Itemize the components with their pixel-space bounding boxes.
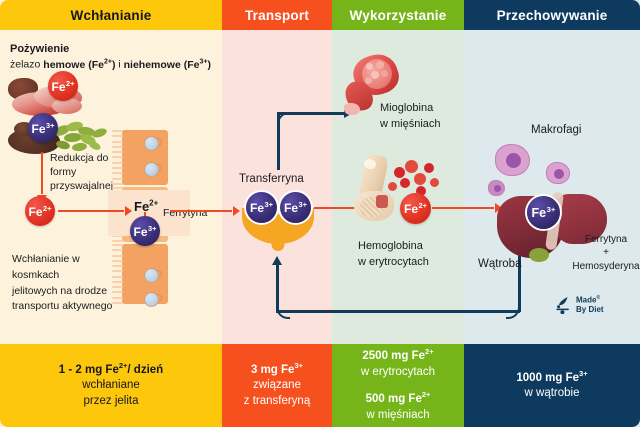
- myoglobin-label: Mioglobina w mięśniach: [380, 101, 466, 132]
- food-subtitle-bold-2: niehemowe (Fe: [124, 59, 200, 71]
- food-title: Pożywienie: [10, 42, 69, 57]
- villi-fringe-top: [112, 130, 123, 185]
- reduction-arrow: [41, 152, 43, 194]
- connector-arrowhead-transferrin-return: [272, 256, 282, 265]
- villi-note-line2: jelitowych na drodze: [12, 284, 128, 300]
- enterocyte-3: [144, 268, 159, 283]
- red-blood-cell-5: [424, 163, 434, 173]
- footer-transport-strong: 3 mg Fe3+: [251, 361, 303, 379]
- header-cell-transport: Transport: [222, 0, 332, 30]
- liver-label: Wątroba: [478, 257, 521, 272]
- iron-ion-nonheme-charge: 3+: [46, 121, 54, 130]
- enterocyte-4: [144, 292, 159, 307]
- macrophage-2: [546, 162, 570, 184]
- footer-transport-line2: z transferyną: [244, 394, 310, 410]
- leaf-drop-icon: [556, 296, 572, 314]
- logo-line2: By Diet: [576, 306, 604, 315]
- transferrin-label: Transferryna: [239, 172, 304, 187]
- villi-iron-label-text: Fe: [134, 199, 149, 214]
- footer-storage-strong: 1000 mg Fe3+: [516, 369, 587, 387]
- macrophages-label: Makrofagi: [531, 123, 582, 138]
- header-bar: Wchłanianie Transport Wykorzystanie Prze…: [0, 0, 640, 30]
- enterocyte-2: [144, 162, 159, 177]
- iron-ion-villi-inner-charge: 3+: [148, 224, 156, 233]
- storage-forms-line1: Ferrytyna: [566, 233, 640, 246]
- food-subtitle-plain-2: i: [115, 59, 123, 71]
- iron-ion-nonheme-label: Fe: [32, 122, 46, 136]
- storage-forms-label: Ferrytyna + Hemosyderyna: [566, 233, 640, 273]
- food-subtitle-plain-1: żelazo: [10, 59, 43, 71]
- footer-cell-storage: 1000 mg Fe3+ w wątrobie: [464, 344, 640, 427]
- iron-ion-liver: Fe3+: [527, 196, 560, 229]
- villi-iron-label-charge: 2+: [149, 199, 158, 208]
- myoglobin-line1: Mioglobina: [380, 101, 466, 117]
- red-blood-cell-2: [405, 160, 418, 173]
- myoglobin-line2: w mięśniach: [380, 117, 466, 133]
- red-blood-cell-3: [400, 178, 410, 188]
- food-subtitle: żelazo hemowe (Fe2+) i niehemowe (Fe3+): [10, 57, 220, 72]
- iron-ion-heme-charge: 2+: [66, 79, 74, 88]
- iron-ion-liver-label: Fe: [532, 206, 547, 220]
- connector-return-horizontal: [276, 310, 520, 313]
- hemoglobin-line2: w erytrocytach: [358, 255, 468, 271]
- bone-marrow-illustration: [348, 155, 408, 227]
- footer-utilization-line2: w mięśniach: [366, 408, 429, 424]
- hemoglobin-line1: Hemoglobina: [358, 239, 468, 255]
- header-cell-absorption: Wchłanianie: [0, 0, 222, 30]
- footer-cell-transport: 3 mg Fe3+ związane z transferyną: [222, 344, 332, 427]
- header-cell-utilization: Wykorzystanie: [332, 0, 464, 30]
- red-blood-cell-4: [414, 173, 426, 185]
- logo-text: Made® By Diet: [576, 296, 604, 315]
- food-subtitle-bold-1: hemowe (Fe: [43, 59, 104, 71]
- header-label-transport: Transport: [245, 8, 309, 23]
- absorption-arrow-to-villi: [58, 210, 124, 212]
- footer-cell-utilization: 2500 mg Fe2+ w erytrocytach 500 mg Fe2+ …: [332, 344, 464, 427]
- iron-ion-reduced: Fe2+: [25, 196, 55, 226]
- footer-cell-absorption: 1 - 2 mg Fe2+/ dzień wchłaniane przez je…: [0, 344, 222, 427]
- red-blood-cell-8: [430, 178, 439, 187]
- footer-utilization-strong-2: 500 mg Fe2+: [366, 390, 431, 408]
- brand-logo: Made® By Diet: [556, 296, 604, 315]
- enterocyte-1: [144, 136, 159, 151]
- iron-ion-transferrin-left: Fe3+: [246, 192, 277, 223]
- iron-ion-hemoglobin-charge: 2+: [419, 201, 427, 210]
- iron-ion-reduced-label: Fe: [29, 205, 43, 219]
- villi-note-line3: transportu aktywnego: [12, 299, 128, 315]
- footer-summary-bar: 1 - 2 mg Fe2+/ dzień wchłaniane przez je…: [0, 344, 640, 427]
- red-blood-cell-6: [388, 182, 397, 191]
- iron-ion-transferrin-right: Fe3+: [280, 192, 311, 223]
- iron-ion-villi-inner-label: Fe: [134, 225, 148, 239]
- footer-utilization-line1: w erytrocytach: [361, 365, 435, 381]
- villi-note-line1: Wchłanianie w kosmkach: [12, 252, 128, 284]
- footer-absorption-line1: wchłaniane: [82, 378, 140, 394]
- header-label-absorption: Wchłanianie: [71, 8, 152, 23]
- iron-ion-heme: Fe2+: [48, 71, 78, 101]
- header-label-storage: Przechowywanie: [497, 8, 608, 23]
- iron-ion-transferrin-right-charge: 3+: [299, 200, 307, 209]
- hemoglobin-label: Hemoglobina w erytrocytach: [358, 239, 468, 270]
- footer-absorption-line2: przez jelita: [84, 394, 139, 410]
- footer-utilization-strong-1: 2500 mg Fe2+: [362, 347, 433, 365]
- food-subtitle-bold-2b: ): [207, 59, 211, 71]
- iron-ion-hemoglobin-label: Fe: [404, 202, 418, 216]
- infographic-canvas: Wchłanianie Transport Wykorzystanie Prze…: [0, 0, 640, 427]
- food-subtitle-sup-1: 2+: [104, 58, 112, 65]
- arrow-villi-to-transferrin: [170, 210, 232, 212]
- storage-forms-line3: Hemosyderyna: [566, 260, 640, 273]
- iron-ion-transferrin-left-charge: 3+: [265, 200, 273, 209]
- iron-ion-liver-charge: 3+: [547, 205, 556, 214]
- arrow-hemoglobin-to-liver: [432, 207, 494, 209]
- footer-absorption-strong: 1 - 2 mg Fe2+/ dzień: [59, 361, 163, 379]
- iron-ion-nonheme: Fe3+: [28, 113, 58, 143]
- iron-ion-transferrin-right-label: Fe: [284, 201, 298, 215]
- storage-forms-line2: +: [566, 246, 640, 259]
- iron-ion-reduced-charge: 2+: [43, 204, 51, 213]
- iron-ion-heme-label: Fe: [52, 80, 66, 94]
- macrophage-1: [495, 144, 530, 176]
- iron-ion-villi-inner: Fe3+: [130, 216, 160, 246]
- header-label-utilization: Wykorzystanie: [350, 8, 447, 23]
- header-cell-storage: Przechowywanie: [464, 0, 640, 30]
- iron-ion-hemoglobin: Fe2+: [400, 193, 431, 224]
- footer-transport-line1: związane: [253, 378, 301, 394]
- footer-storage-line1: w wątrobie: [525, 386, 580, 402]
- red-blood-cell-1: [394, 167, 405, 178]
- villi-absorption-note: Wchłanianie w kosmkach jelitowych na dro…: [12, 252, 128, 315]
- iron-ion-transferrin-left-label: Fe: [250, 201, 264, 215]
